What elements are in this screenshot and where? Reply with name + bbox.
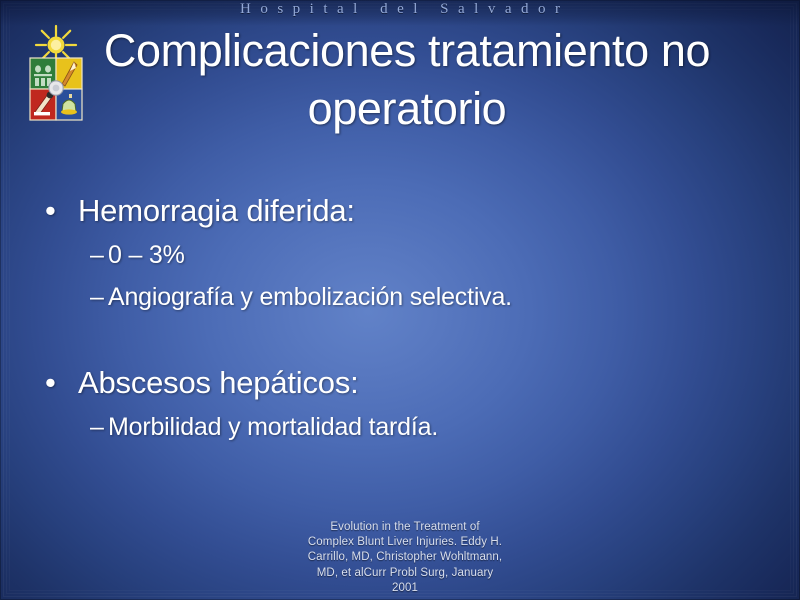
bullet-text: 0 – 3% — [108, 241, 185, 269]
institution-name: Hospital del Salvador — [0, 1, 800, 18]
bullet-marker-dot: • — [45, 362, 56, 404]
bullet-marker-dash: – — [90, 276, 104, 318]
slide-body-content: • Hemorragia diferida: – 0 – 3% – Angiog… — [38, 190, 762, 448]
bullet-text: Angiografía y embolización selectiva. — [108, 283, 512, 311]
bullet-text: Morbilidad y mortalidad tardía. — [108, 413, 438, 441]
bullet-item-level2: – Angiografía y embolización selectiva. — [38, 276, 762, 318]
bullet-item-level1: • Hemorragia diferida: — [38, 190, 762, 232]
bullet-item-level2: – 0 – 3% — [38, 234, 762, 276]
bullet-text: Abscesos hepáticos: — [78, 365, 359, 400]
bullet-item-level1: • Abscesos hepáticos: — [38, 362, 762, 404]
bullet-text: Hemorragia diferida: — [78, 193, 355, 228]
bullet-marker-dash: – — [90, 406, 104, 448]
bullet-marker-dash: – — [90, 234, 104, 276]
presentation-slide: Hospital del Salvador — [0, 0, 800, 600]
citation-line: 2001 — [160, 581, 650, 596]
source-citation: Evolution in the Treatment of Complex Bl… — [160, 520, 650, 596]
bullet-marker-dot: • — [45, 190, 56, 232]
citation-line: MD, et alCurr Probl Surg, January — [160, 566, 650, 581]
citation-line: Complex Blunt Liver Injuries. Eddy H. — [160, 535, 650, 550]
bullet-group-spacer — [38, 318, 762, 362]
citation-line: Evolution in the Treatment of — [160, 520, 650, 535]
bullet-item-level2: – Morbilidad y mortalidad tardía. — [38, 406, 762, 448]
page-title: Complicaciones tratamiento no operatorio — [62, 22, 752, 138]
citation-line: Carrillo, MD, Christopher Wohltmann, — [160, 550, 650, 565]
